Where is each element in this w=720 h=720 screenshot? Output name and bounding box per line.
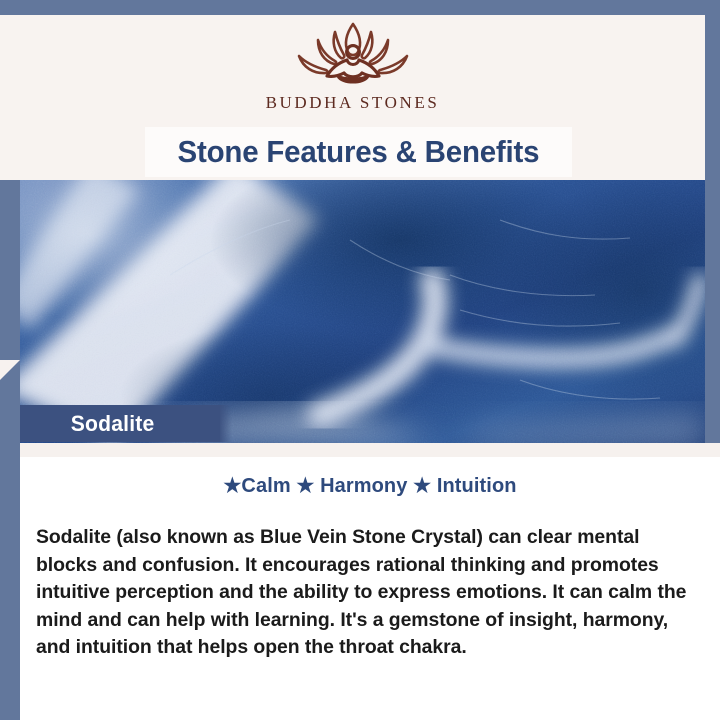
frame-top-border [0, 0, 720, 15]
page-title-band: Stone Features & Benefits [145, 127, 572, 177]
sodalite-texture-image [20, 180, 705, 443]
stone-name: Sodalite [71, 411, 155, 437]
brand-name: BUDDHA STONES [266, 93, 440, 113]
frame-left-chamfer [0, 360, 20, 380]
frame-left-border [0, 180, 20, 720]
frame-right-border [705, 180, 720, 452]
photo-bottom-strip [20, 443, 720, 457]
stone-info-card: BUDDHA STONES Stone Features & Benefits [0, 0, 720, 720]
stone-keywords: ★Calm ★ Harmony ★ Intuition [20, 473, 720, 498]
brand-logo: BUDDHA STONES [0, 18, 705, 113]
lotus-meditation-figure-icon [278, 18, 428, 90]
frame-right-top-border [705, 0, 720, 182]
page-title: Stone Features & Benefits [178, 134, 540, 170]
stone-description: Sodalite (also known as Blue Vein Stone … [36, 524, 702, 662]
stone-details: ★Calm ★ Harmony ★ Intuition Sodalite (al… [20, 457, 720, 720]
stone-photo [20, 180, 705, 443]
stone-label-bar: Sodalite [20, 405, 220, 442]
